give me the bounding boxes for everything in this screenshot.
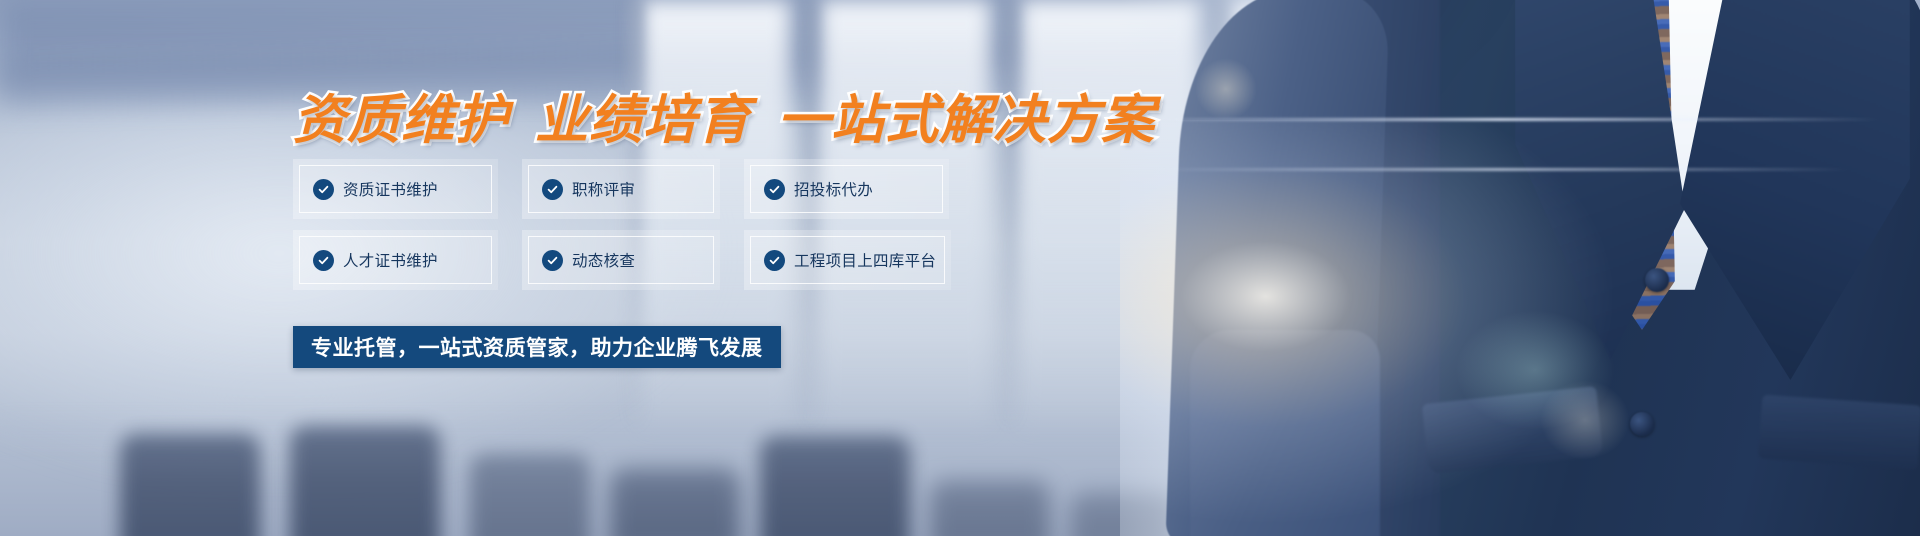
banner-content: 资质维护业绩培育一站式解决方案 资质证书维护 职称评审	[0, 0, 1100, 536]
feature-item-project-four-database-platform[interactable]: 工程项目上四库平台	[744, 230, 951, 290]
feature-item-label: 职称评审	[572, 178, 635, 200]
feature-item-bidding-agency[interactable]: 招投标代办	[744, 159, 949, 219]
businessman-photo	[1120, 0, 1920, 536]
feature-item-inner: 招投标代办	[750, 165, 943, 213]
check-circle-icon	[764, 179, 785, 200]
suit-button	[1645, 268, 1669, 292]
headline-part-3: 一站式解决方案	[777, 91, 1155, 150]
feature-item-inner: 人才证书维护	[299, 236, 492, 284]
feature-item-inner: 资质证书维护	[299, 165, 492, 213]
check-circle-icon	[313, 179, 334, 200]
feature-item-label: 动态核查	[572, 249, 635, 271]
feature-list: 资质证书维护 职称评审 招投标代办	[293, 159, 944, 290]
suit-pocket-right	[1758, 394, 1920, 469]
promo-banner: 资质维护业绩培育一站式解决方案 资质证书维护 职称评审	[0, 0, 1920, 536]
feature-item-inner: 工程项目上四库平台	[750, 236, 945, 284]
check-circle-icon	[542, 250, 563, 271]
headline-part-2: 业绩培育	[535, 91, 751, 150]
check-circle-icon	[313, 250, 334, 271]
check-circle-icon	[764, 250, 785, 271]
cta-text: 专业托管，一站式资质管家，助力企业腾飞发展	[311, 332, 763, 362]
check-circle-icon	[542, 179, 563, 200]
suit-sleeve-cuff	[1190, 330, 1380, 536]
suit-button	[1630, 412, 1654, 436]
feature-item-inner: 职称评审	[528, 165, 714, 213]
feature-item-talent-certificate-maintenance[interactable]: 人才证书维护	[293, 230, 498, 290]
feature-item-label: 资质证书维护	[343, 178, 438, 200]
feature-item-label: 招投标代办	[794, 178, 873, 200]
feature-item-qualification-certificate-maintenance[interactable]: 资质证书维护	[293, 159, 498, 219]
feature-item-dynamic-inspection[interactable]: 动态核查	[522, 230, 720, 290]
feature-item-inner: 动态核查	[528, 236, 714, 284]
page-title: 资质维护业绩培育一站式解决方案	[293, 78, 1155, 154]
headline-part-1: 资质维护	[293, 91, 509, 150]
cta-banner[interactable]: 专业托管，一站式资质管家，助力企业腾飞发展	[293, 326, 781, 368]
feature-item-label: 工程项目上四库平台	[794, 249, 936, 271]
feature-item-label: 人才证书维护	[343, 249, 438, 271]
feature-item-title-evaluation[interactable]: 职称评审	[522, 159, 720, 219]
